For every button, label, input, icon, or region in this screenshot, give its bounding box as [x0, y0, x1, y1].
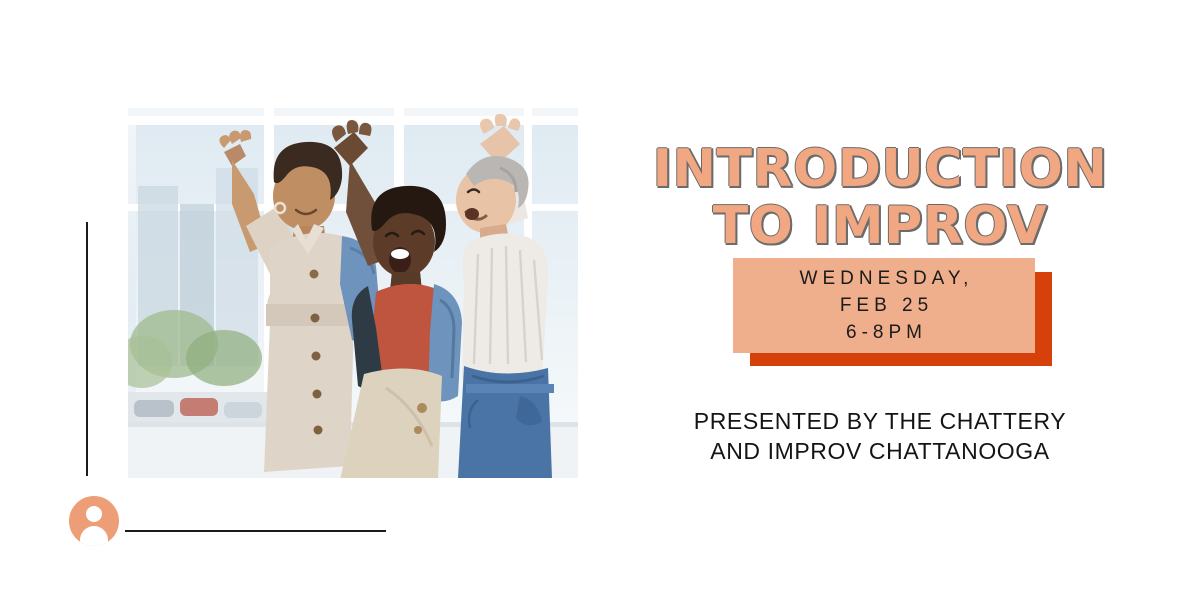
presenter-line-1: PRESENTED BY THE CHATTERY: [694, 408, 1066, 434]
event-photo: [128, 108, 578, 478]
avatar-head: [86, 506, 102, 522]
headline-line-2: TO IMPROV: [640, 198, 1120, 255]
date-line-weekday: WEDNESDAY,: [795, 265, 974, 292]
headline-line-1: INTRODUCTION: [653, 139, 1108, 199]
horizontal-divider: [125, 530, 386, 532]
photo-illustration: [128, 108, 578, 478]
presenter-line-2: AND IMPROV CHATTANOOGA: [640, 436, 1120, 466]
presenter-credit: PRESENTED BY THE CHATTERY AND IMPROV CHA…: [640, 406, 1120, 466]
date-line-time: 6-8PM: [841, 319, 927, 346]
avatar-shoulders: [80, 526, 108, 546]
event-flyer: INTRODUCTION TO IMPROV WEDNESDAY, FEB 25…: [0, 0, 1200, 600]
vertical-divider: [86, 222, 88, 476]
page-title: INTRODUCTION TO IMPROV: [640, 141, 1120, 255]
date-line-date: FEB 25: [835, 292, 933, 319]
date-block: WEDNESDAY, FEB 25 6-8PM: [733, 258, 1035, 353]
user-avatar-icon: [69, 496, 119, 546]
